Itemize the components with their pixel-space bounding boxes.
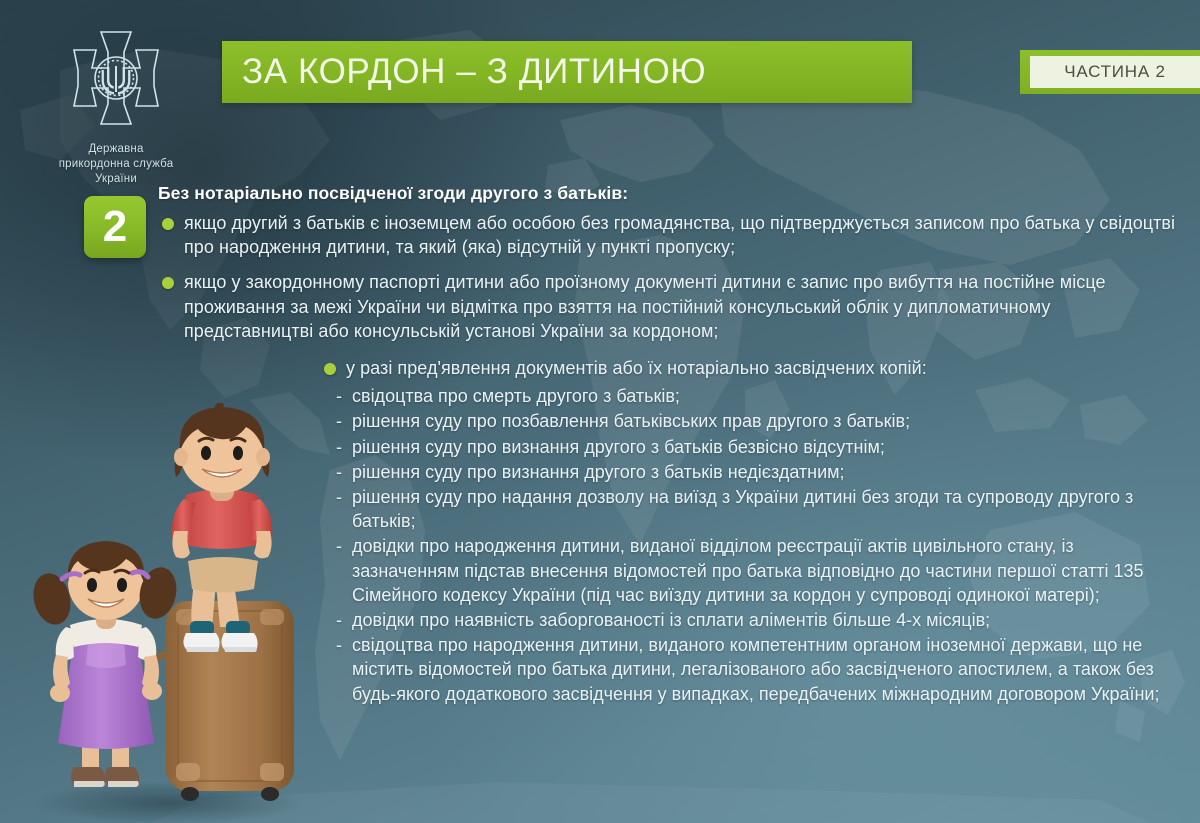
section-number-badge: 2: [84, 196, 146, 258]
emblem-caption-line-2: прикордонна служба: [36, 157, 196, 172]
list-item: свідоцтва про народження дитини, виданог…: [334, 633, 1178, 706]
part-badge: ЧАСТИНА 2: [1020, 50, 1200, 94]
border-guard-cross-icon: [68, 24, 164, 136]
part-badge-label: ЧАСТИНА 2: [1064, 62, 1166, 82]
list-item: довідки про народження дитини, виданої в…: [334, 534, 1178, 607]
list-item: свідоцтва про смерть другого з батьків;: [334, 384, 1178, 408]
bullet-item: якщо другий з батьків є іноземцем або ос…: [158, 211, 1178, 259]
emblem-caption: Державна прикордонна служба України: [36, 142, 196, 188]
section-lead: Без нотаріально посвідченої згоди другог…: [158, 183, 1178, 204]
list-item: рішення суду про надання дозволу на виїз…: [334, 485, 1178, 533]
poster-root: Державна прикордонна служба України ЗА К…: [0, 0, 1200, 823]
list-item: рішення суду про визнання другого з бать…: [334, 460, 1178, 484]
agency-emblem-block: Державна прикордонна служба України: [36, 24, 196, 188]
bullet-item-documents: у разі пред'явлення документів або їх но…: [320, 356, 1178, 380]
list-item: рішення суду про позбавлення батьківськи…: [334, 409, 1178, 433]
title-bar: ЗА КОРДОН – З ДИТИНОЮ: [222, 41, 912, 103]
list-item: рішення суду про визнання другого з бать…: [334, 435, 1178, 459]
part-badge-chip: ЧАСТИНА 2: [1030, 56, 1200, 88]
documents-list: свідоцтва про смерть другого з батьків; …: [320, 384, 1178, 706]
bullet-item: якщо у закордонному паспорті дитини або …: [158, 270, 1178, 343]
list-item: довідки про наявність заборгованості із …: [334, 608, 1178, 632]
page-title: ЗА КОРДОН – З ДИТИНОЮ: [242, 52, 706, 92]
section-number: 2: [103, 205, 127, 249]
children-illustration: [18, 403, 328, 823]
emblem-caption-line-1: Державна: [36, 142, 196, 157]
